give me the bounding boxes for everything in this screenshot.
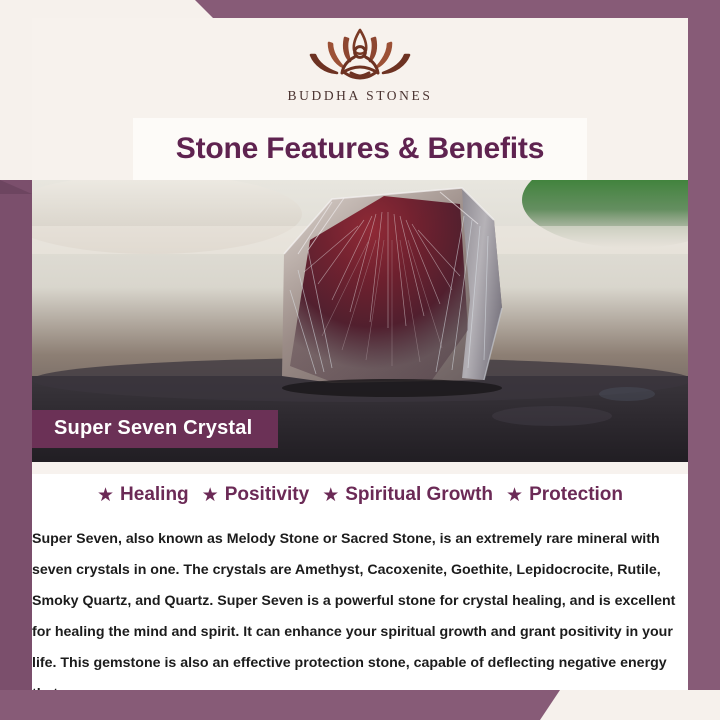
benefit-item: ★ Positivity [202, 484, 310, 506]
star-icon: ★ [322, 486, 339, 505]
page-title: Stone Features & Benefits [176, 132, 544, 166]
benefit-label: Protection [529, 484, 623, 506]
photo-caption-banner: Super Seven Crystal [32, 410, 278, 448]
star-icon: ★ [202, 486, 219, 505]
brand-name: BUDDHA STONES [288, 88, 433, 104]
lotus-meditation-icon [285, 24, 435, 86]
photo-caption-text: Super Seven Crystal [54, 417, 252, 439]
star-icon: ★ [506, 486, 523, 505]
frame-top-bar [0, 0, 720, 18]
lower-section: ★ Healing ★ Positivity ★ Spiritual Growt… [32, 462, 688, 690]
frame-left-bar [0, 180, 32, 720]
brand-header: BUDDHA STONES [32, 18, 688, 118]
benefit-item: ★ Spiritual Growth [322, 484, 493, 506]
frame-right-bar [688, 0, 720, 690]
description-paragraph: Super Seven, also known as Melody Stone … [32, 524, 688, 710]
star-icon: ★ [97, 486, 114, 505]
product-photo: Super Seven Crystal [32, 180, 688, 462]
benefits-row: ★ Healing ★ Positivity ★ Spiritual Growt… [32, 484, 688, 506]
benefit-label: Healing [120, 484, 189, 506]
lower-tint-strip [32, 462, 688, 474]
benefit-item: ★ Protection [506, 484, 623, 506]
benefit-item: ★ Healing [97, 484, 189, 506]
benefit-label: Positivity [225, 484, 309, 506]
benefit-label: Spiritual Growth [345, 484, 493, 506]
title-band: Stone Features & Benefits [32, 118, 688, 180]
content-card: BUDDHA STONES Stone Features & Benefits [32, 18, 688, 690]
poster: BUDDHA STONES Stone Features & Benefits [0, 0, 720, 720]
title-plate: Stone Features & Benefits [133, 118, 587, 180]
